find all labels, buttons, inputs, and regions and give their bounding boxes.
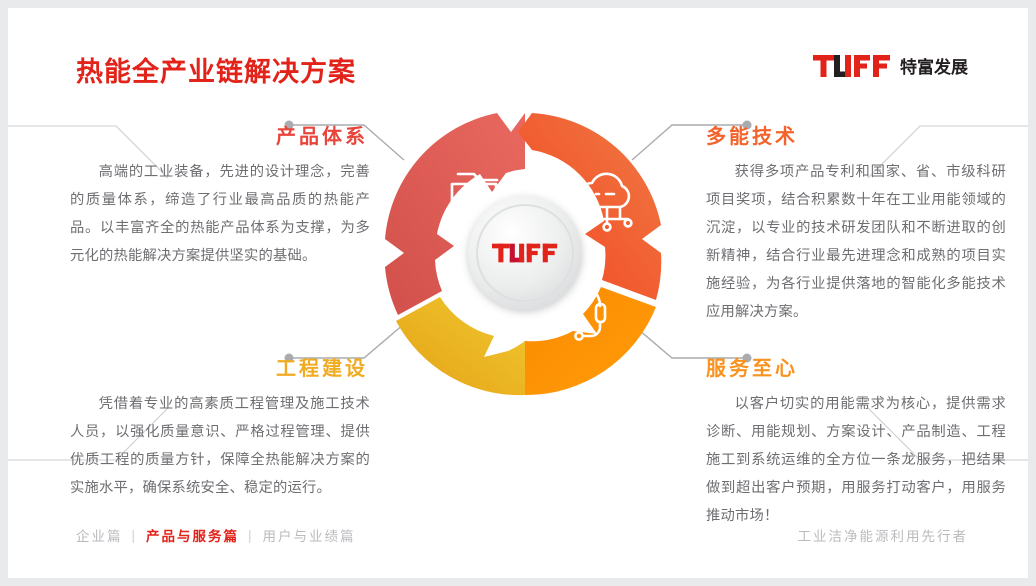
footer-nav: 企业篇 | 产品与服务篇 | 用户与业绩篇 bbox=[76, 525, 356, 545]
brand-logo: 特富发展 bbox=[813, 53, 968, 78]
block-tech: 多能技术 获得多项产品专利和国家、省、市级科研项目奖项，结合积累数十年在工业用能… bbox=[706, 120, 1006, 326]
block-service-title: 服务至心 bbox=[706, 352, 1006, 381]
brand-name: 特富发展 bbox=[900, 53, 968, 78]
block-service-body: 以客户切实的用能需求为核心，提供需求诊断、用能规划、方案设计、产品制造、工程施工… bbox=[706, 390, 1006, 530]
footer-nav-item-2[interactable]: 用户与业绩篇 bbox=[263, 525, 356, 545]
wheel-segment-project[interactable] bbox=[396, 297, 525, 395]
slide-canvas: 热能全产业链解决方案 特富发展 bbox=[8, 8, 1028, 578]
footer-nav-sep-1: | bbox=[248, 528, 254, 543]
process-wheel-diagram bbox=[380, 108, 670, 398]
block-tech-body: 获得多项产品专利和国家、省、市级科研项目奖项，结合积累数十年在工业用能领域的沉淀… bbox=[706, 158, 1006, 326]
tuff-wordmark-icon bbox=[813, 55, 891, 77]
wheel-hub bbox=[468, 196, 582, 310]
footer-nav-item-1[interactable]: 产品与服务篇 bbox=[146, 525, 239, 545]
block-project-body: 凭借着专业的高素质工程管理及施工技术人员，以强化质量意识、严格过程管理、提供优质… bbox=[70, 390, 370, 502]
block-project-title: 工程建设 bbox=[70, 352, 368, 381]
block-service: 服务至心 以客户切实的用能需求为核心，提供需求诊断、用能规划、方案设计、产品制造… bbox=[706, 352, 1006, 530]
footer-slogan: 工业洁净能源利用先行者 bbox=[798, 525, 969, 545]
block-project: 工程建设 凭借着专业的高素质工程管理及施工技术人员，以强化质量意识、严格过程管理… bbox=[70, 352, 370, 502]
page-title: 热能全产业链解决方案 bbox=[76, 50, 356, 89]
block-product: 产品体系 高端的工业装备，先进的设计理念，完善的质量体系，缔造了行业最高品质的热… bbox=[70, 120, 370, 270]
footer-nav-sep-0: | bbox=[132, 528, 138, 543]
footer-nav-item-0[interactable]: 企业篇 bbox=[76, 525, 123, 545]
block-tech-title: 多能技术 bbox=[706, 120, 1006, 149]
block-product-title: 产品体系 bbox=[70, 120, 368, 149]
block-product-body: 高端的工业装备，先进的设计理念，完善的质量体系，缔造了行业最高品质的热能产品。以… bbox=[70, 158, 370, 270]
